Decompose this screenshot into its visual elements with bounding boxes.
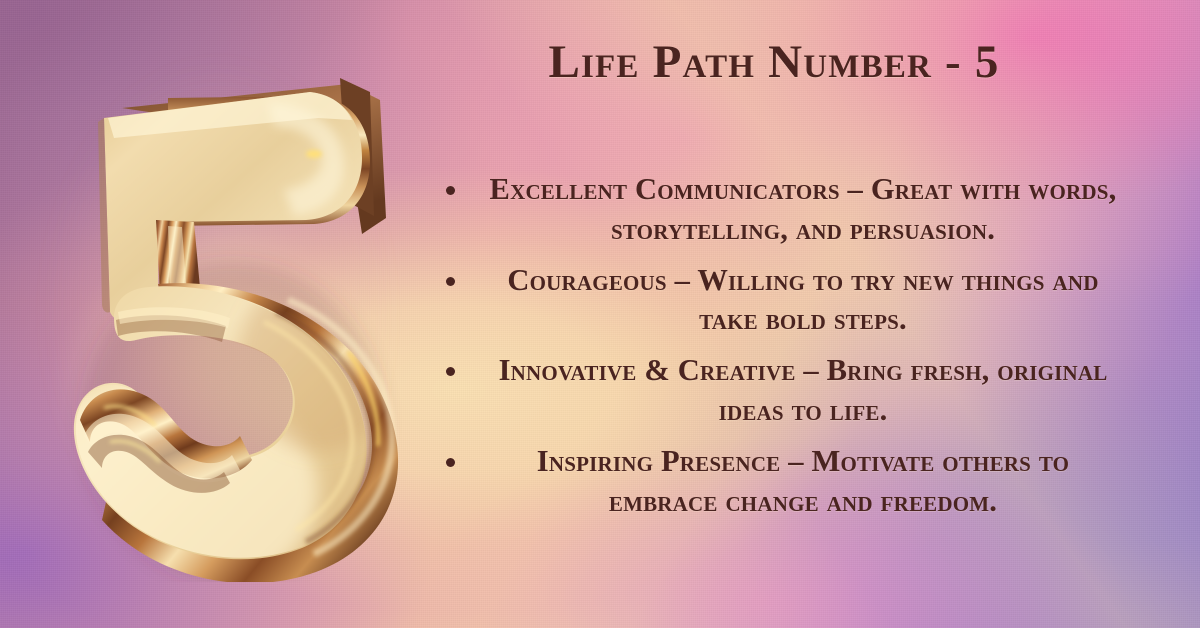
poster-canvas: Life Path Number - 5 Excellent Communica… [0, 0, 1200, 628]
list-item-label: Courageous – Willing to try new things a… [507, 263, 1098, 337]
bullet-dot-icon [446, 186, 455, 195]
trait-list: Excellent Communicators – Great with wor… [424, 170, 1124, 521]
list-item: Inspiring Presence – Motivate others to … [424, 442, 1124, 522]
life-path-numeral [18, 22, 418, 582]
list-item: Excellent Communicators – Great with wor… [424, 170, 1124, 250]
list-item: Innovative & Creative – Bring fresh, ori… [424, 351, 1124, 431]
list-item-label: Inspiring Presence – Motivate others to … [537, 444, 1069, 518]
page-title: Life Path Number - 5 [424, 36, 1124, 89]
bullet-dot-icon [446, 277, 455, 286]
numeral-bar-glint [306, 150, 322, 158]
text-column: Life Path Number - 5 Excellent Communica… [424, 0, 1124, 628]
bullet-dot-icon [446, 367, 455, 376]
list-item: Courageous – Willing to try new things a… [424, 261, 1124, 341]
list-item-label: Excellent Communicators – Great with wor… [490, 172, 1117, 246]
bullet-dot-icon [446, 458, 455, 467]
list-item-label: Innovative & Creative – Bring fresh, ori… [499, 353, 1108, 427]
numeral-five-icon [18, 22, 418, 582]
